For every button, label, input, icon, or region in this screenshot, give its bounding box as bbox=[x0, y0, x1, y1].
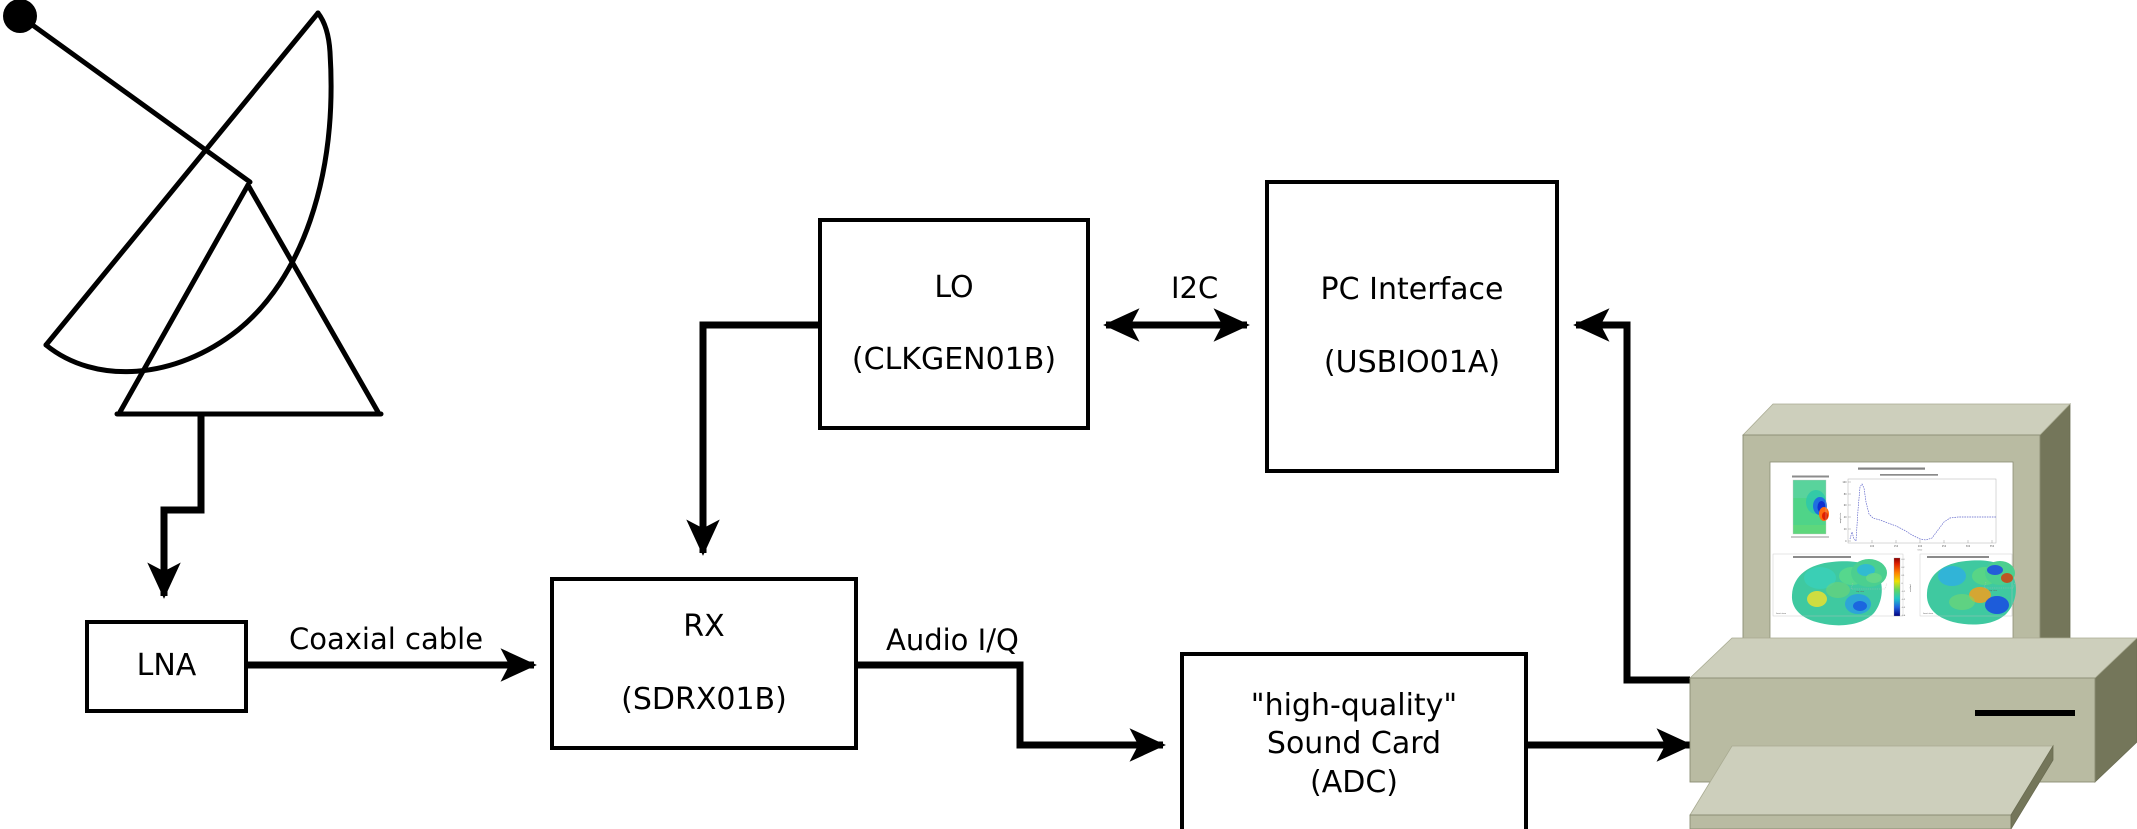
drive-slot[interactable] bbox=[1975, 710, 2075, 716]
pc-interface-block[interactable]: PC Interface (USBIO01A) bbox=[1265, 180, 1559, 473]
audio-iq-label: Audio I/Q bbox=[886, 626, 1019, 655]
svg-text:amplitude: amplitude bbox=[1839, 512, 1842, 523]
lo-block[interactable]: LO (CLKGEN01B) bbox=[818, 218, 1090, 430]
monitor-side-panel bbox=[2040, 404, 2070, 668]
base-top-panel bbox=[1690, 638, 2137, 678]
desktop-computer-icon: 100 80 60 40 20 0 amplitude bbox=[1680, 390, 2137, 829]
coaxial-cable-label: Coaxial cable bbox=[289, 625, 483, 654]
plot-line-chart: 100 80 60 40 20 0 amplitude bbox=[1839, 474, 1996, 552]
block-diagram-canvas: LNA RX (SDRX01B) LO (CLKGEN01B) PC Inter… bbox=[0, 0, 2137, 829]
svg-text:200: 200 bbox=[1918, 545, 1923, 548]
keyboard-front-edge bbox=[1690, 815, 2011, 829]
svg-text:350: 350 bbox=[1990, 545, 1995, 548]
rx-block[interactable]: RX (SDRX01B) bbox=[550, 577, 858, 750]
svg-text:250: 250 bbox=[1942, 545, 1947, 548]
svg-text:residual: residual bbox=[1909, 584, 1912, 592]
dish-feed-horn-icon bbox=[3, 0, 37, 33]
svg-text:100: 100 bbox=[1842, 481, 1847, 484]
svg-text:time: time bbox=[1918, 549, 1923, 552]
monitor-top-bevel bbox=[1743, 404, 2070, 435]
line-computer-to-pc-interface bbox=[1576, 325, 1690, 680]
svg-text:150: 150 bbox=[1894, 545, 1899, 548]
svg-text:top view: top view bbox=[1856, 590, 1865, 593]
lo-block-title: LO bbox=[934, 271, 973, 305]
rx-block-title: RX bbox=[683, 610, 724, 644]
satellite-dish-icon bbox=[20, 13, 381, 414]
sound-card-quality-label: "high-quality" bbox=[1251, 687, 1457, 725]
svg-text:300: 300 bbox=[1966, 545, 1971, 548]
i2c-label: I2C bbox=[1171, 274, 1218, 303]
line-rx-to-sound-card bbox=[855, 665, 1163, 745]
plot-colormap-patch bbox=[1793, 480, 1829, 534]
pc-interface-block-title: PC Interface bbox=[1321, 273, 1504, 307]
lna-block[interactable]: LNA bbox=[85, 620, 248, 713]
line-lo-to-rx bbox=[703, 325, 818, 553]
pc-interface-block-part-number: (USBIO01A) bbox=[1324, 346, 1500, 380]
svg-text:front view: front view bbox=[1776, 612, 1786, 615]
svg-text:front view: front view bbox=[1923, 612, 1933, 615]
keyboard-top[interactable] bbox=[1690, 746, 2053, 815]
line-dish-to-lna bbox=[164, 416, 201, 596]
lo-block-part-number: (CLKGEN01B) bbox=[852, 343, 1056, 377]
svg-text:top view: top view bbox=[1989, 589, 1998, 592]
sound-card-type: (ADC) bbox=[1310, 764, 1398, 802]
sound-card-title: Sound Card bbox=[1267, 725, 1441, 763]
sound-card-block[interactable]: "high-quality" Sound Card (ADC) bbox=[1180, 652, 1528, 829]
svg-text:100: 100 bbox=[1870, 545, 1875, 548]
rx-block-part-number: (SDRX01B) bbox=[621, 683, 787, 717]
lna-block-label: LNA bbox=[137, 649, 197, 683]
